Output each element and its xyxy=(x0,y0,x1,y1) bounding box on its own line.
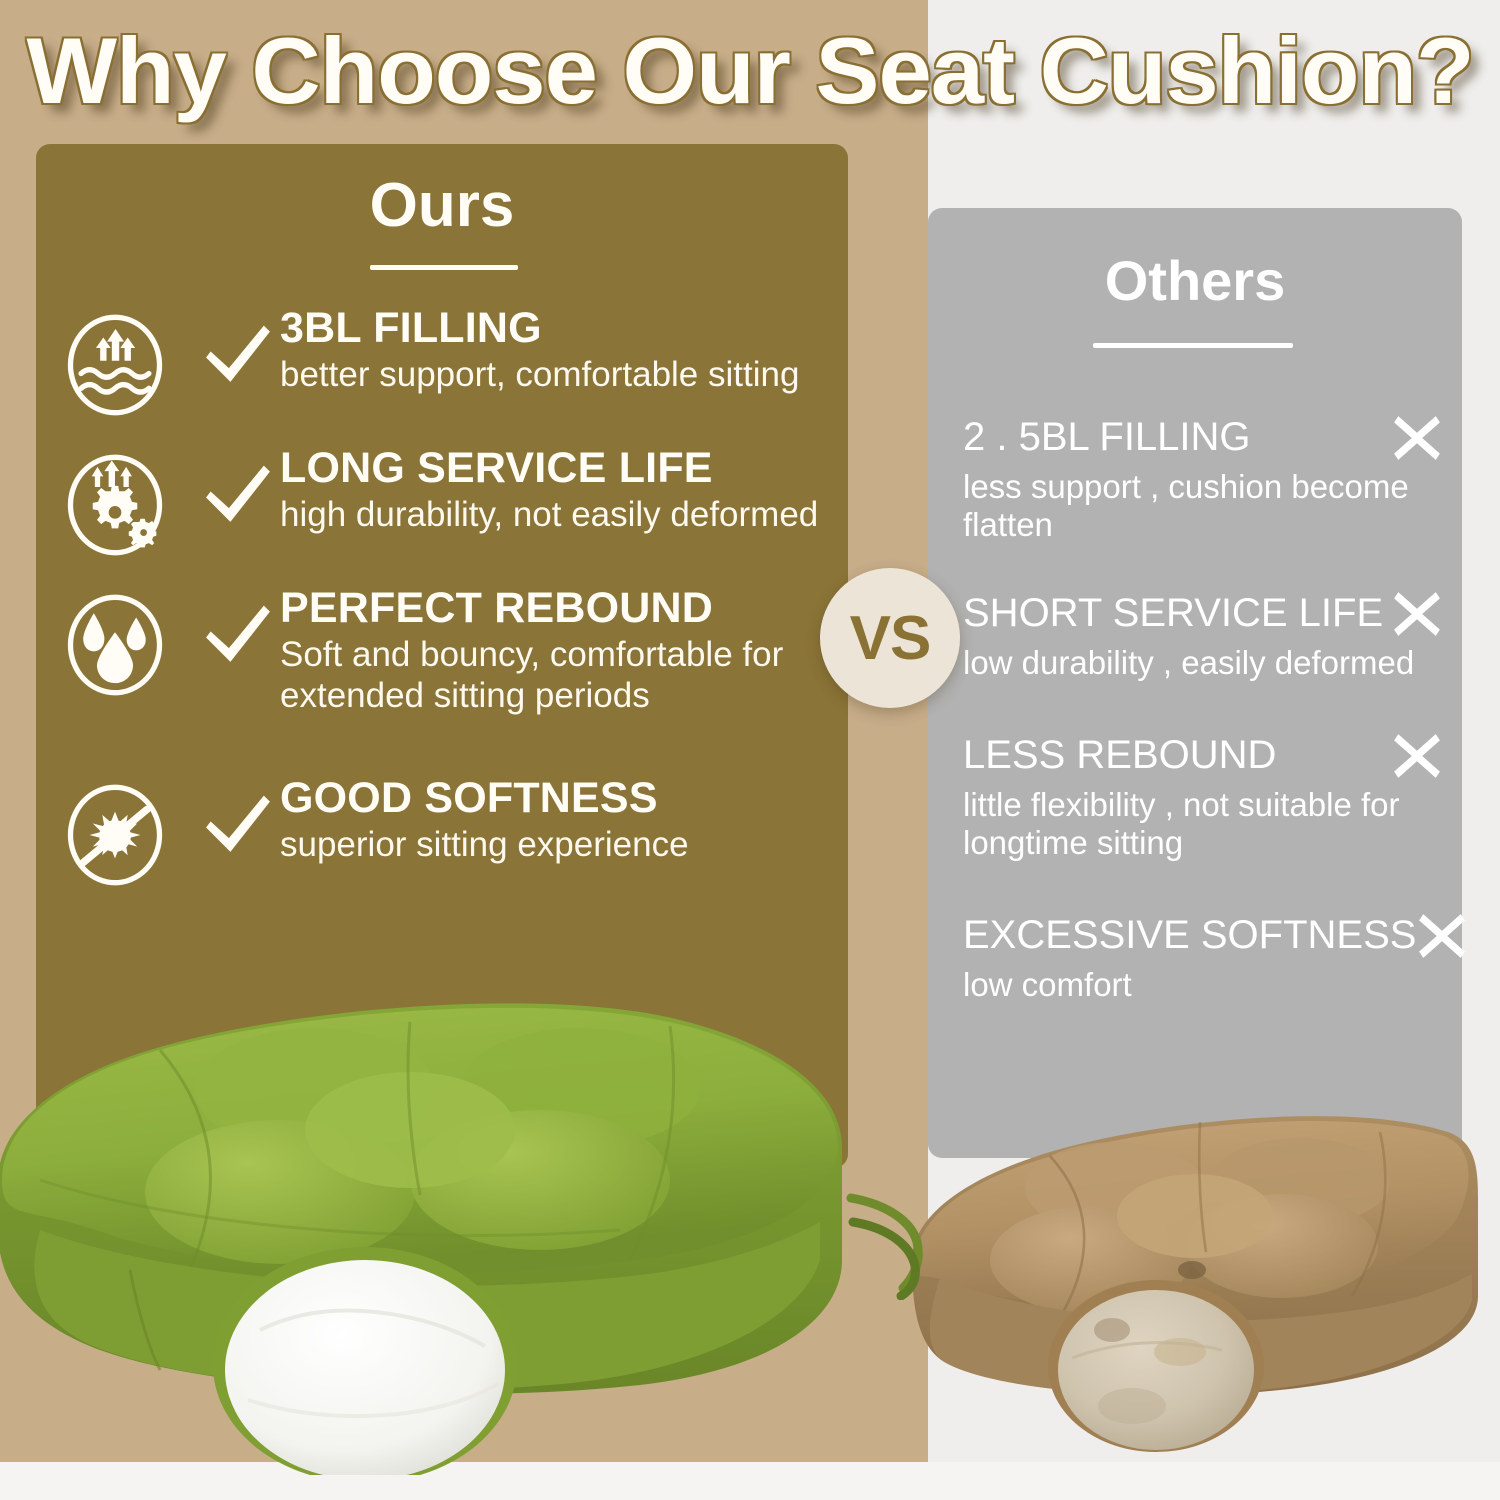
others-feature-subtitle: less support , cushion become flatten xyxy=(963,468,1443,543)
arrows-waves-icon xyxy=(62,312,168,418)
ours-feature-title: GOOD SOFTNESS xyxy=(280,774,840,822)
vs-badge: VS xyxy=(820,568,960,708)
others-feature-row: LESS REBOUND little flexibility , not su… xyxy=(963,730,1443,861)
check-icon xyxy=(200,458,276,534)
ours-feature-text: 3BL FILLING better support, comfortable … xyxy=(280,304,840,396)
others-heading-rule xyxy=(1093,343,1293,348)
x-icon xyxy=(1391,588,1443,640)
others-feature-subtitle: low durability , easily deformed xyxy=(963,644,1443,682)
others-feature-title: SHORT SERVICE LIFE xyxy=(963,592,1383,635)
water-droplets-icon xyxy=(62,592,168,698)
ours-feature-title: 3BL FILLING xyxy=(280,304,840,352)
ours-feature-subtitle: high durability, not easily deformed xyxy=(280,495,840,536)
page-title: Why Choose Our Seat Cushion? xyxy=(0,22,1500,120)
others-feature-row: EXCESSIVE SOFTNESS low comfort xyxy=(963,910,1443,1004)
arrows-gears-icon xyxy=(62,452,168,558)
others-feature-title: 2 . 5BL FILLING xyxy=(963,416,1251,459)
ours-feature-subtitle: superior sitting experience xyxy=(280,825,840,866)
ours-heading-rule xyxy=(370,265,518,270)
others-feature-title: EXCESSIVE SOFTNESS xyxy=(963,914,1416,957)
others-feature-row: 2 . 5BL FILLING less support , cushion b… xyxy=(963,412,1443,543)
ours-feature-text: GOOD SOFTNESS superior sitting experienc… xyxy=(280,774,840,866)
others-feature-title: LESS REBOUND xyxy=(963,734,1276,777)
ours-heading: Ours xyxy=(36,170,848,241)
x-icon xyxy=(1391,730,1443,782)
ours-feature-subtitle: better support, comfortable sitting xyxy=(280,355,840,396)
anti-bacteria-icon xyxy=(62,782,168,888)
others-feature-subtitle: low comfort xyxy=(963,966,1443,1004)
others-feature-row: SHORT SERVICE LIFE low durability , easi… xyxy=(963,588,1443,682)
others-feature-subtitle: little flexibility , not suitable for lo… xyxy=(963,786,1443,861)
x-icon xyxy=(1391,412,1443,464)
x-icon xyxy=(1416,910,1468,962)
cushion-tie-strings xyxy=(845,1180,955,1300)
check-icon xyxy=(200,318,276,394)
ours-feature-text: PERFECT REBOUND Soft and bouncy, comfort… xyxy=(280,584,840,716)
ours-feature-subtitle: Soft and bouncy, comfortable for extende… xyxy=(280,635,840,716)
others-panel xyxy=(928,208,1462,1158)
infographic-canvas: Why Choose Our Seat Cushion? Ours Others xyxy=(0,0,1500,1500)
ours-feature-title: PERFECT REBOUND xyxy=(280,584,840,632)
ours-cushion-image xyxy=(0,930,880,1475)
ours-feature-title: LONG SERVICE LIFE xyxy=(280,444,840,492)
check-icon xyxy=(200,598,276,674)
check-icon xyxy=(200,788,276,864)
others-heading: Others xyxy=(928,248,1462,313)
ours-feature-text: LONG SERVICE LIFE high durability, not e… xyxy=(280,444,840,536)
others-cushion-image xyxy=(900,1070,1480,1470)
